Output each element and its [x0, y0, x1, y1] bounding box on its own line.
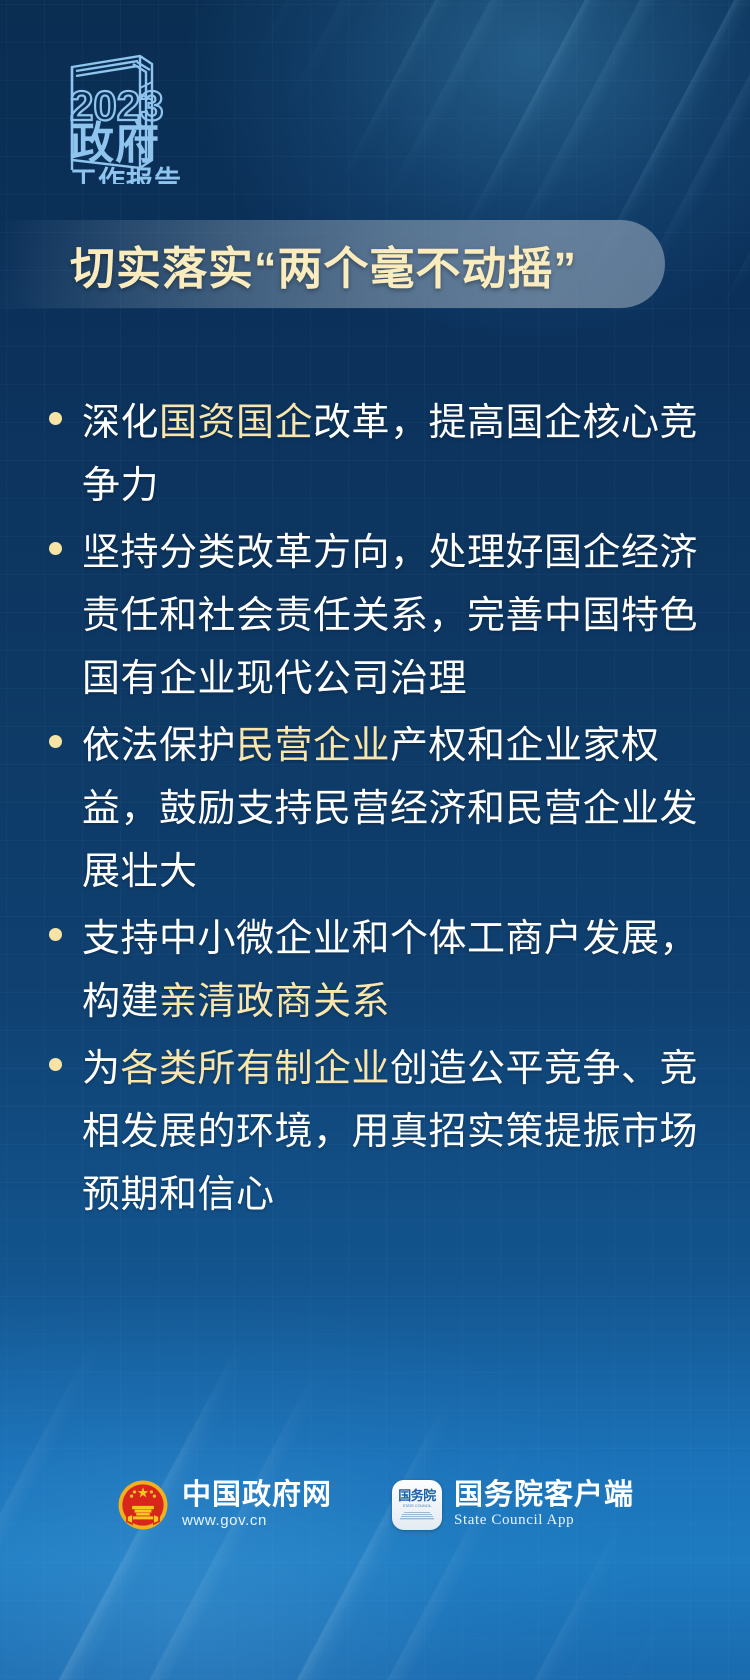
bottom-light-streaks — [0, 1260, 750, 1680]
bullet-dot-wrap — [28, 908, 82, 941]
sc-icon-label: 国务院 — [398, 1489, 436, 1502]
highlighted-phrase: 民营企业 — [236, 725, 390, 767]
list-item: 为各类所有制企业创造公平竞争、竞相发展的环境，用真招实策提振市场预期和信心 — [28, 1038, 722, 1227]
gov-cn-logo-text: 中国政府网 www.gov.cn — [182, 1480, 332, 1531]
highlighted-phrase: 国资国企 — [159, 402, 313, 444]
list-item: 支持中小微企业和个体工商户发展，构建亲清政商关系 — [28, 908, 722, 1034]
book-icon: 2023 政府 工作报告 — [40, 42, 200, 184]
masthead-logo: 2023 政府 工作报告 — [40, 42, 200, 182]
list-item: 坚持分类改革方向，处理好国企经济责任和社会责任关系，完善中国特色国有企业现代公司… — [28, 522, 722, 711]
masthead-line1: 政府 — [70, 119, 160, 168]
bullet-text: 支持中小微企业和个体工商户发展，构建亲清政商关系 — [82, 908, 722, 1034]
bullet-text: 坚持分类改革方向，处理好国企经济责任和社会责任关系，完善中国特色国有企业现代公司… — [82, 522, 722, 711]
footer: 中国政府网 www.gov.cn 国务院 STATE COUNCIL 国务 — [0, 1478, 750, 1532]
state-council-app-logo[interactable]: 国务院 STATE COUNCIL 国务院客户端 State Council A… — [392, 1480, 634, 1531]
bullet-dot-wrap — [28, 522, 82, 555]
state-council-app-icon: 国务院 STATE COUNCIL — [392, 1480, 442, 1530]
bullet-dot-icon — [49, 412, 62, 425]
list-item: 深化国资国企改革，提高国企核心竞争力 — [28, 392, 722, 518]
highlighted-phrase: 亲清政商关系 — [159, 981, 390, 1023]
bullet-dot-icon — [49, 1058, 62, 1071]
state-council-app-text: 国务院客户端 State Council App — [454, 1480, 634, 1531]
bullet-dot-wrap — [28, 715, 82, 748]
plain-phrase: 深化 — [82, 402, 159, 444]
poster-root: 2023 政府 工作报告 切实落实“两个毫不动摇” 深化国资国企改革，提高国企核… — [0, 0, 750, 1680]
bullet-dot-wrap — [28, 1038, 82, 1071]
great-hall-icon — [400, 1510, 434, 1521]
bullet-dot-icon — [49, 542, 62, 555]
page-title: 切实落实“两个毫不动摇” — [70, 222, 670, 306]
sc-icon-sublabel: STATE COUNCIL — [403, 1503, 432, 1508]
gov-cn-url: www.gov.cn — [182, 1511, 332, 1531]
bullet-text: 深化国资国企改革，提高国企核心竞争力 — [82, 392, 722, 518]
bullet-list: 深化国资国企改革，提高国企核心竞争力 坚持分类改革方向，处理好国企经济责任和社会… — [28, 392, 722, 1231]
bullet-text: 为各类所有制企业创造公平竞争、竞相发展的环境，用真招实策提振市场预期和信心 — [82, 1038, 722, 1227]
national-emblem-icon — [116, 1478, 170, 1532]
masthead-line2: 工作报告 — [70, 166, 182, 184]
bullet-dot-icon — [49, 928, 62, 941]
state-council-app-name-en: State Council App — [454, 1511, 634, 1531]
state-council-app-name-cn: 国务院客户端 — [454, 1480, 634, 1511]
gov-cn-logo[interactable]: 中国政府网 www.gov.cn — [116, 1478, 332, 1532]
bullet-text: 依法保护民营企业产权和企业家权益，鼓励支持民营经济和民营企业发展壮大 — [82, 715, 722, 904]
bullet-dot-icon — [49, 735, 62, 748]
gov-cn-name: 中国政府网 — [182, 1480, 332, 1511]
plain-phrase: 坚持分类改革方向，处理好国企经济责任和社会责任关系，完善中国特色国有企业现代公司… — [82, 532, 698, 700]
bullet-dot-wrap — [28, 392, 82, 425]
list-item: 依法保护民营企业产权和企业家权益，鼓励支持民营经济和民营企业发展壮大 — [28, 715, 722, 904]
plain-phrase: 为 — [82, 1048, 121, 1090]
plain-phrase: 依法保护 — [82, 725, 236, 767]
highlighted-phrase: 各类所有制企业 — [121, 1048, 391, 1090]
